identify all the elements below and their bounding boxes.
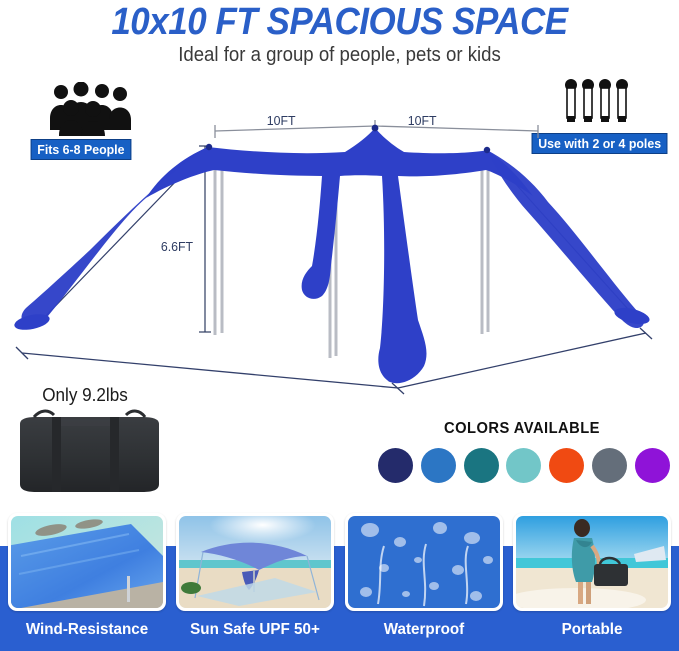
- canopy-fabric-beach-photo: [11, 516, 163, 608]
- feature-label-waterproof: Waterproof: [349, 620, 499, 646]
- color-swatch-teal[interactable]: [464, 448, 499, 483]
- color-swatch-purple[interactable]: [635, 448, 670, 483]
- feature-card-sun: [176, 513, 334, 611]
- canopy-peak-dots: [206, 125, 490, 154]
- bag-weight-label: Only 9.2lbs: [42, 385, 128, 406]
- feature-label-wind: Wind-Resistance: [12, 620, 162, 646]
- page-subtitle: Ideal for a group of people, pets or kid…: [24, 44, 655, 66]
- page-title: 10x10 FT SPACIOUS SPACE: [27, 2, 652, 42]
- carry-bag-image: [14, 406, 164, 496]
- color-swatch-light-teal[interactable]: [506, 448, 541, 483]
- beach-canopy-setup-photo: [179, 516, 331, 608]
- feature-label-sun: Sun Safe UPF 50+: [180, 620, 330, 646]
- corner-anchors: [13, 305, 651, 333]
- feature-labels: Wind-Resistance Sun Safe UPF 50+ Waterpr…: [0, 620, 679, 646]
- water-droplets-photo: [348, 516, 500, 608]
- feature-card-wind: [8, 513, 166, 611]
- dimension-label-top-right: 10FT: [408, 113, 437, 128]
- color-swatch-navy[interactable]: [378, 448, 413, 483]
- support-poles: [215, 162, 488, 382]
- color-swatch-orange[interactable]: [549, 448, 584, 483]
- dimension-line-height: [199, 146, 211, 332]
- color-swatch-blue[interactable]: [421, 448, 456, 483]
- canopy-illustration: [0, 100, 679, 410]
- dimension-label-height: 6.6FT: [161, 239, 193, 254]
- canopy-fabric: [22, 128, 644, 383]
- color-swatch-list: [378, 446, 670, 484]
- colors-available-title: COLORS AVAILABLE: [384, 420, 660, 438]
- feature-label-portable: Portable: [517, 620, 667, 646]
- feature-card-portable: [513, 513, 671, 611]
- infographic-root: 10x10 FT SPACIOUS SPACE Ideal for a grou…: [0, 0, 679, 651]
- dimension-label-top-left: 10FT: [267, 113, 296, 128]
- feature-cards: [0, 513, 679, 613]
- woman-carrying-bag-photo: [516, 516, 668, 608]
- feature-card-waterproof: [345, 513, 503, 611]
- color-swatch-gray[interactable]: [592, 448, 627, 483]
